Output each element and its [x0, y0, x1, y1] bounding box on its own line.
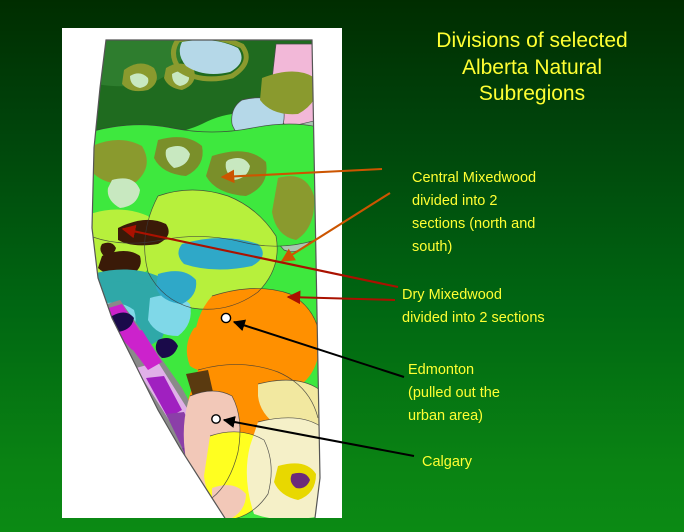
annotation-edmonton: Edmonton (pulled out the urban area): [408, 359, 500, 428]
lake-lesser-slave: [178, 238, 262, 270]
annotation-dry-mixedwood: Dry Mixedwood divided into 2 sections: [402, 284, 545, 330]
annotation-central-mixedwood: Central Mixedwood divided into 2 section…: [412, 167, 536, 259]
title-line-2: Alberta Natural: [392, 55, 672, 82]
page-title: Divisions of selected Alberta Natural Su…: [392, 28, 672, 108]
title-line-3: Subregions: [392, 81, 672, 108]
map-regions: [62, 28, 342, 518]
alberta-subregions-map: [62, 28, 342, 518]
region-upland-nw: [92, 140, 147, 184]
slide-canvas: Divisions of selected Alberta Natural Su…: [0, 0, 684, 532]
title-line-1: Divisions of selected: [392, 28, 672, 55]
annotation-calgary: Calgary: [422, 451, 472, 474]
map-panel: [62, 28, 342, 518]
